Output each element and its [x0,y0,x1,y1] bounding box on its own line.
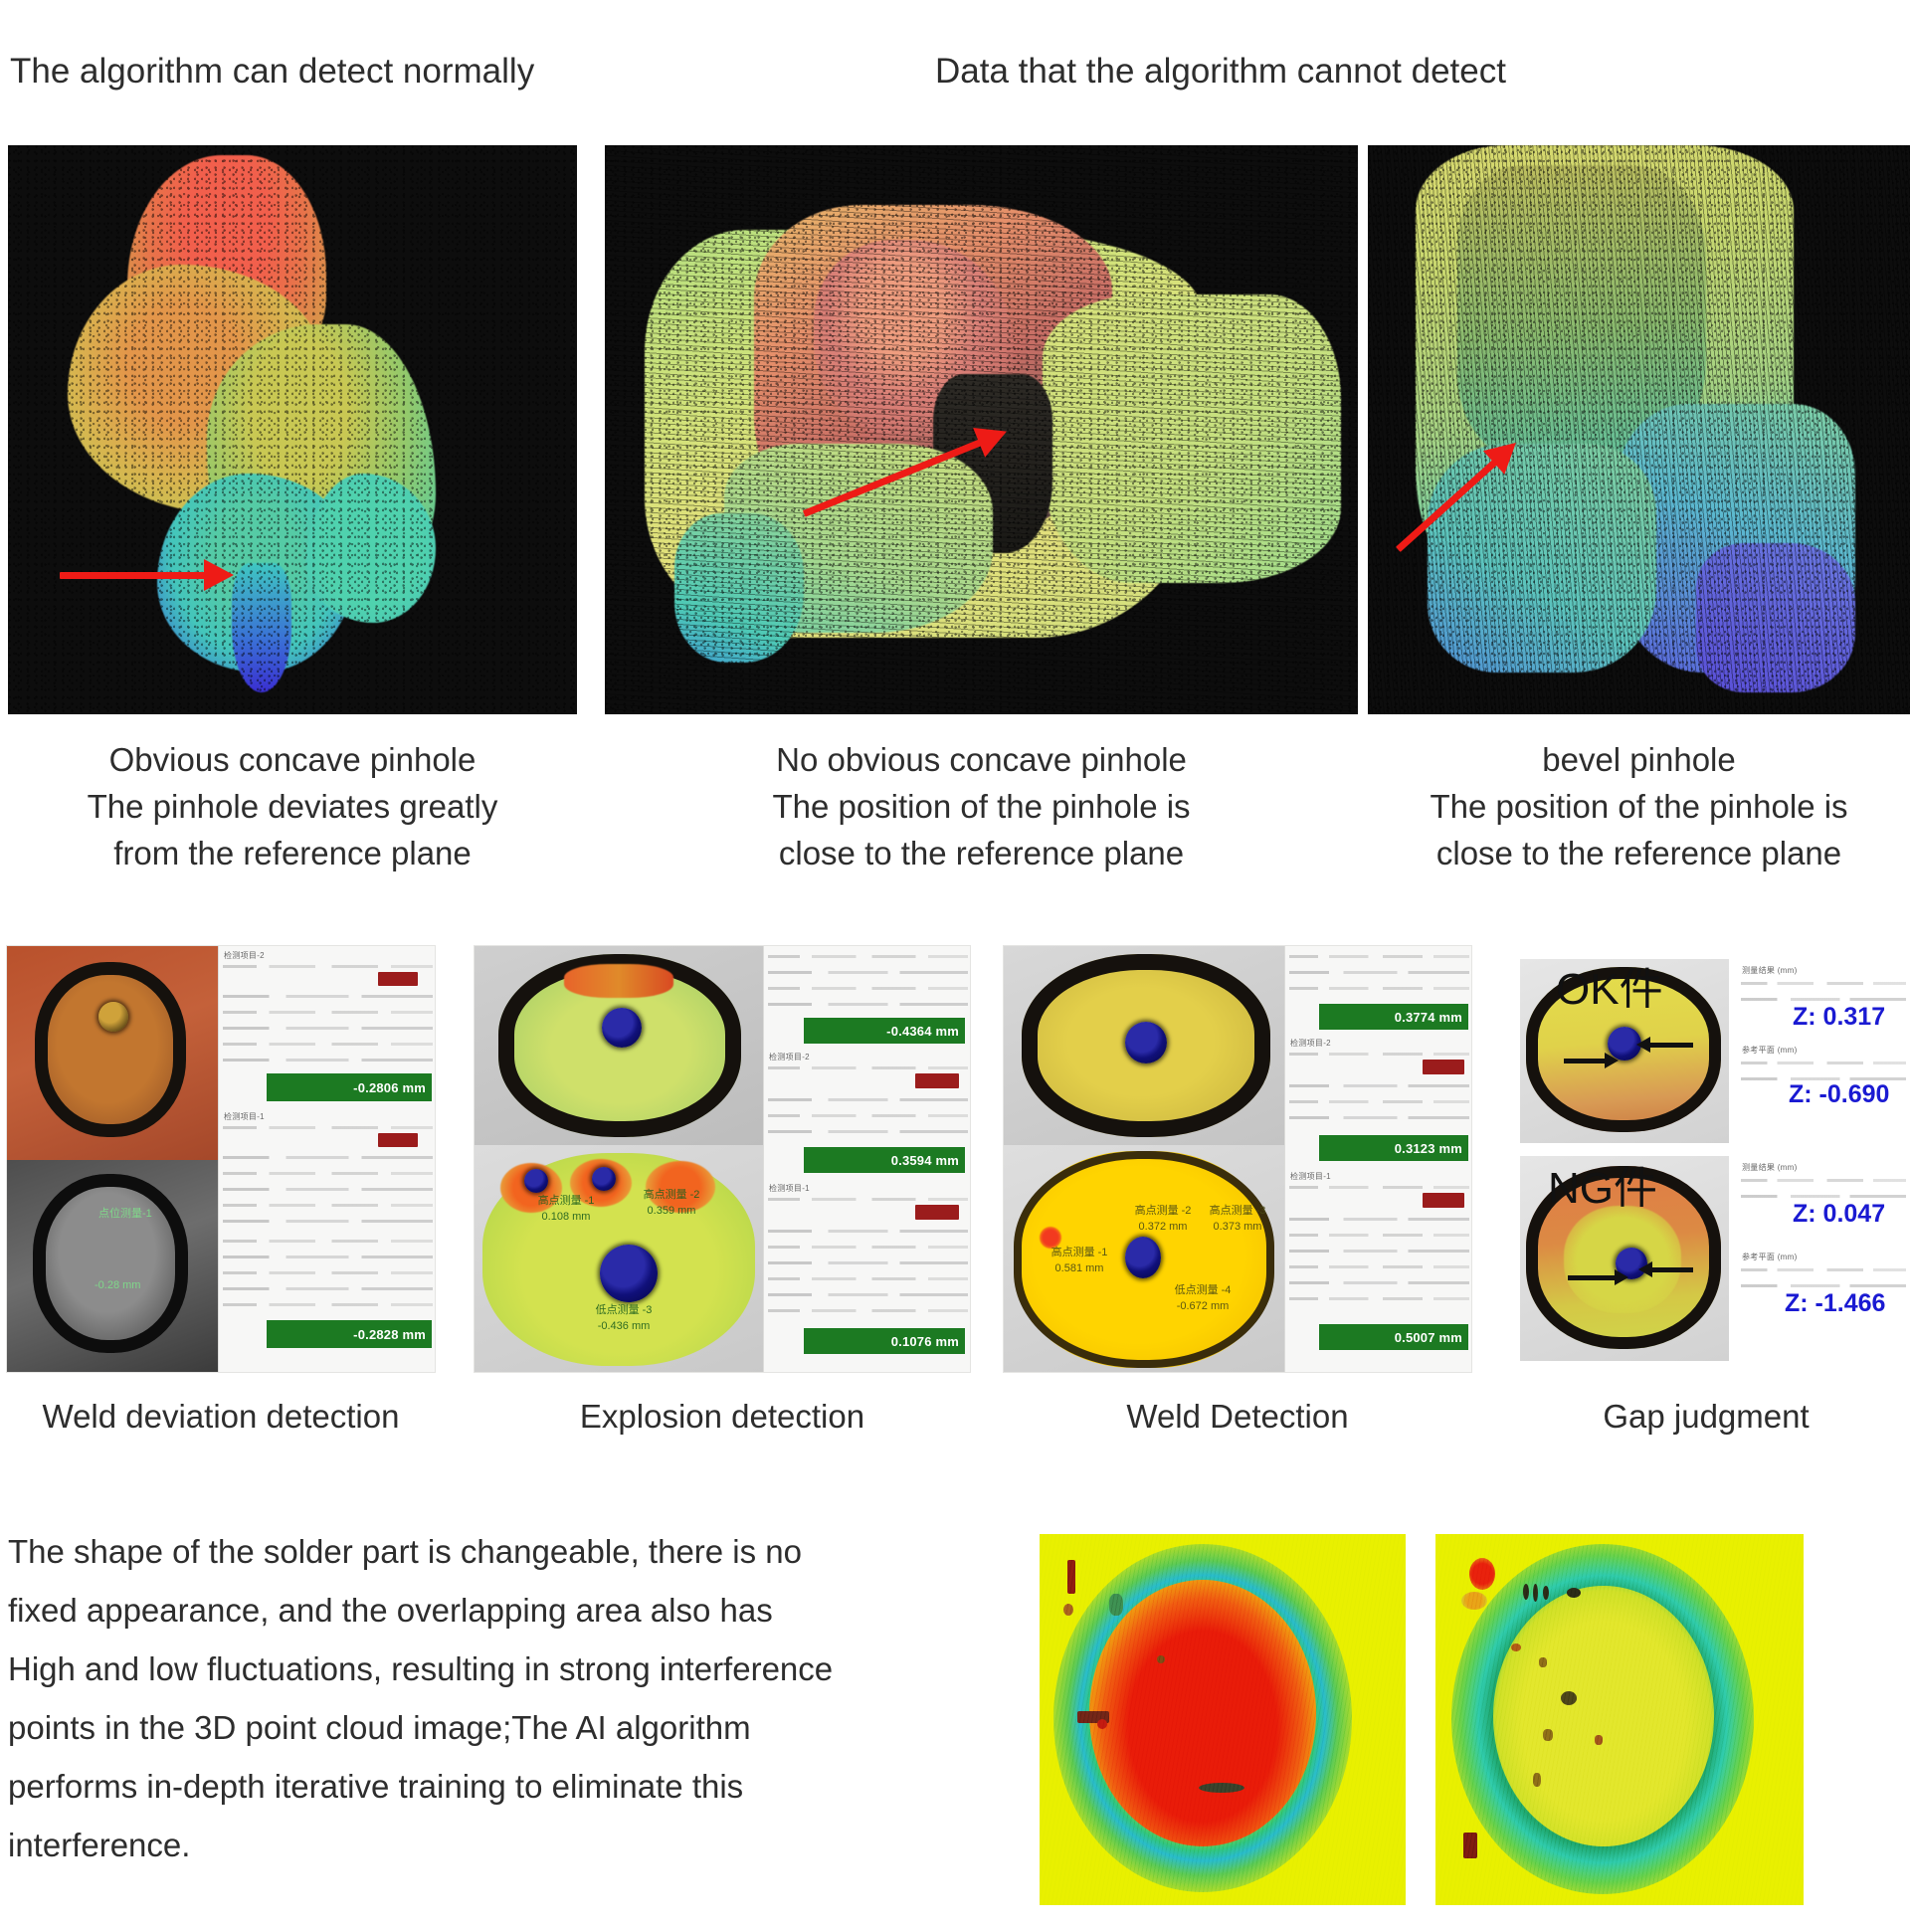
label-weld-detection: Weld Detection [1003,1398,1472,1436]
header-detectable: The algorithm can detect normally [10,52,534,92]
gap-ng-z-top: Z: 0.047 [1793,1200,1885,1229]
gap-ok-z-top: Z: 0.317 [1793,1003,1885,1032]
label-explosion-detection: Explosion detection [474,1398,971,1436]
form-section-title: 检测项目-2 [1290,1038,1331,1049]
weld-detection-image-top [1004,946,1284,1145]
gap-status-ok: OK件 [1556,959,1663,1017]
caption-line: from the reference plane [8,830,577,876]
explosion-image-heatmap: 高点测量 -1 0.108 mm 高点测量 -2 0.359 mm 低点测量 -… [475,1145,763,1373]
gap-ng-readout: 测量结果 (mm) Z: 0.047 参考平面 (mm) Z: -1.466 [1737,1156,1910,1361]
gap-ok-z-bottom: Z: -0.690 [1789,1080,1889,1109]
pointcloud-panel-1 [8,145,577,714]
explosion-annot-3-label: 低点测量 -3 [564,1304,683,1317]
paragraph-line: fixed appearance, and the overlapping ar… [8,1581,1013,1640]
explosion-annot-1-value: 0.108 mm [506,1211,626,1224]
summary-paragraph: The shape of the solder part is changeab… [8,1522,1013,1874]
caption-pointcloud-2: No obvious concave pinhole The position … [605,736,1358,876]
weld-deviation-form[interactable]: 检测项目-2 -0.2806 mm 检测项目-1 -0.2828 mm [218,946,436,1373]
paragraph-line: High and low fluctuations, resulting in … [8,1640,1013,1698]
form-section-title: 检测项目-1 [224,1111,265,1122]
alarm-indicator [915,1205,959,1220]
explosion-annot-1-label: 高点测量 -1 [506,1195,626,1208]
weld-deviation-panel: 点位测量-1 -0.28 mm 检测项目-2 -0.2806 mm 检测项目-1 [6,945,436,1373]
alarm-indicator [1423,1060,1464,1074]
slide-root: The algorithm can detect normally Data t… [0,0,1910,1932]
pointcloud-panel-3 [1368,145,1910,714]
explosion-value-bottom: 0.1076 mm [804,1328,965,1354]
gap-ok-readout: 测量结果 (mm) Z: 0.317 参考平面 (mm) Z: -0.690 [1737,959,1910,1143]
paragraph-line: interference. [8,1816,1013,1874]
weld-detection-image-heatmap: 高点测量 -1 0.581 mm 高点测量 -2 0.372 mm 高点测量 -… [1004,1145,1284,1373]
weld-detection-panel: 高点测量 -1 0.581 mm 高点测量 -2 0.372 mm 高点测量 -… [1003,945,1472,1373]
form-section-title: 检测项目-2 [769,1052,810,1063]
caption-pointcloud-1: Obvious concave pinhole The pinhole devi… [8,736,577,876]
pointcloud-panel-2 [605,145,1358,714]
explosion-detection-form[interactable]: -0.4364 mm 检测项目-2 0.3594 mm 检测项目-1 0.107… [763,946,971,1373]
weld-detection-form[interactable]: 0.3774 mm 检测项目-2 0.3123 mm 检测项目-1 0.5007… [1284,946,1472,1373]
weld-detection-value-mid: 0.3123 mm [1319,1135,1468,1161]
caption-line: close to the reference plane [1368,830,1910,876]
form-section-title: 检测项目-2 [224,950,265,961]
weld-deviation-image-gray: 点位测量-1 -0.28 mm [7,1160,218,1373]
explosion-annot-2-value: 0.359 mm [612,1205,731,1218]
gap-arrow-right [1649,1043,1693,1048]
weld-deviation-value-bottom: -0.2828 mm [267,1320,432,1348]
weld-annot-3-label: 高点测量 -3 [1195,1205,1280,1218]
gap-judgment-panel: OK件 测量结果 (mm) Z: 0.317 参考平面 (mm) Z: -0.6… [1502,945,1910,1373]
alarm-indicator [915,1073,959,1088]
heatmap-before-training [1040,1534,1406,1905]
readout-title: 参考平面 (mm) [1742,1045,1798,1056]
explosion-annot-2-label: 高点测量 -2 [612,1189,731,1202]
pointcloud-render-1 [8,145,577,714]
explosion-value-mid: 0.3594 mm [804,1147,965,1173]
caption-line: close to the reference plane [605,830,1358,876]
caption-line: The pinhole deviates greatly [8,783,577,830]
weld-annot-3-value: 0.373 mm [1195,1221,1280,1234]
caption-line: The position of the pinhole is [1368,783,1910,830]
paragraph-line: The shape of the solder part is changeab… [8,1522,1013,1581]
explosion-image-top [475,946,763,1145]
pointcloud-speckle [1368,145,1910,714]
header-undetectable: Data that the algorithm cannot detect [935,52,1506,92]
caption-line: Obvious concave pinhole [8,736,577,783]
gap-arrow-left [1564,1059,1606,1063]
alarm-indicator [378,1133,418,1147]
caption-line: The position of the pinhole is [605,783,1358,830]
caption-line: No obvious concave pinhole [605,736,1358,783]
gap-arrow-left [1568,1275,1616,1280]
caption-line: bevel pinhole [1368,736,1910,783]
gap-ng-z-bottom: Z: -1.466 [1785,1289,1885,1318]
label-weld-deviation-detection: Weld deviation detection [6,1398,436,1436]
pointcloud-speckle [8,145,577,714]
gap-arrow-right [1651,1267,1693,1272]
form-section-title: 检测项目-1 [769,1183,810,1194]
caption-pointcloud-3: bevel pinhole The position of the pinhol… [1368,736,1910,876]
weld-annot-4-label: 低点测量 -4 [1143,1284,1262,1297]
explosion-annot-3-value: -0.436 mm [564,1320,683,1333]
pointcloud-render-3 [1368,145,1910,714]
alarm-indicator [378,972,418,986]
weld-deviation-value-top: -0.2806 mm [267,1073,432,1101]
explosion-value-top: -0.4364 mm [804,1018,965,1044]
gap-image-ng: NG件 [1520,1156,1729,1361]
weld-detection-value-bottom: 0.5007 mm [1319,1324,1468,1350]
weld-deviation-image-color [7,946,218,1160]
weld-annot-1-label: 高点测量 -1 [1020,1247,1139,1259]
heatmap-after-training [1435,1534,1804,1905]
readout-title: 测量结果 (mm) [1742,1162,1798,1173]
readout-title: 参考平面 (mm) [1742,1252,1798,1262]
explosion-detection-panel: 高点测量 -1 0.108 mm 高点测量 -2 0.359 mm 低点测量 -… [474,945,971,1373]
alarm-indicator [1423,1193,1464,1208]
paragraph-line: points in the 3D point cloud image;The A… [8,1698,1013,1757]
paragraph-line: performs in-depth iterative training to … [8,1757,1013,1816]
readout-title: 测量结果 (mm) [1742,965,1798,976]
weld-detection-value-top: 0.3774 mm [1319,1004,1468,1030]
form-section-title: 检测项目-1 [1290,1171,1331,1182]
label-gap-judgment: Gap judgment [1502,1398,1910,1436]
weld-annot-1-value: 0.581 mm [1020,1262,1139,1275]
weld-annot-4-value: -0.672 mm [1143,1300,1262,1313]
gap-status-ng: NG件 [1548,1156,1657,1216]
gap-image-ok: OK件 [1520,959,1729,1143]
